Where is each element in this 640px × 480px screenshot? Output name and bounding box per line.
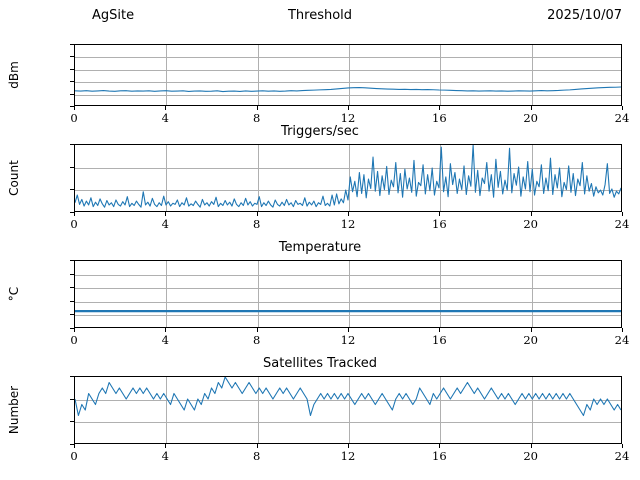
x-tick-label: 4 [162,449,169,463]
x-tick-mark [165,212,166,216]
panel-satellites: Satellites Tracked Number 04812048121620… [0,356,640,474]
data-trace-threshold [75,45,621,105]
x-tick-label: 4 [162,111,169,125]
y-tick-mark [70,144,74,145]
panel-temperature-ylabel: °C [7,287,21,301]
page-title: Threshold [0,8,640,23]
x-tick-mark [348,328,349,332]
x-tick-label: 8 [253,111,260,125]
x-tick-label: 16 [432,449,447,463]
y-tick-mark [70,301,74,302]
y-tick-mark [70,274,74,275]
x-tick-mark [622,212,623,216]
x-tick-mark [74,444,75,448]
x-tick-mark [531,212,532,216]
x-tick-mark [622,444,623,448]
x-tick-label: 24 [615,449,630,463]
y-tick-mark [70,81,74,82]
x-tick-mark [74,328,75,332]
panel-temperature-axes [74,260,622,328]
x-tick-mark [531,444,532,448]
x-tick-mark [439,106,440,110]
panel-satellites-title: Satellites Tracked [0,356,640,371]
data-trace-triggers [75,145,621,211]
panel-triggers-ylabel: Count [7,160,21,196]
y-tick-mark [70,69,74,70]
monitoring-dashboard: AgSite Threshold 2025/10/07 dBm −50−60−7… [0,0,640,480]
x-tick-mark [622,328,623,332]
x-tick-mark [257,106,258,110]
x-tick-mark [531,106,532,110]
y-tick-mark [70,376,74,377]
x-tick-label: 12 [341,449,356,463]
x-tick-mark [165,328,166,332]
y-tick-mark [70,314,74,315]
panel-threshold-axes [74,44,622,106]
x-tick-label: 4 [162,217,169,231]
x-tick-label: 16 [432,111,447,125]
x-tick-mark [74,212,75,216]
y-tick-mark [70,167,74,168]
y-tick-mark [70,189,74,190]
x-tick-mark [439,328,440,332]
y-tick-mark [70,287,74,288]
x-tick-label: 4 [162,333,169,347]
x-tick-label: 0 [70,449,77,463]
x-tick-label: 24 [615,217,630,231]
panel-threshold: dBm −50−60−70−80−90−10004812162024 [0,26,640,124]
x-tick-label: 20 [523,217,538,231]
y-tick-mark [70,56,74,57]
x-tick-label: 24 [615,111,630,125]
panel-triggers-axes [74,144,622,212]
data-trace-satellites [75,377,621,443]
x-tick-label: 24 [615,333,630,347]
x-tick-label: 0 [70,333,77,347]
date-label: 2025/10/07 [547,8,622,23]
y-tick-mark [70,399,74,400]
panel-satellites-ylabel: Number [7,386,21,434]
x-tick-label: 16 [432,217,447,231]
y-tick-mark [70,94,74,95]
x-tick-mark [439,212,440,216]
panel-triggers-title: Triggers/sec [0,124,640,139]
x-tick-label: 20 [523,449,538,463]
x-tick-mark [165,444,166,448]
y-tick-mark [70,421,74,422]
x-tick-label: 12 [341,217,356,231]
x-tick-label: 12 [341,333,356,347]
x-tick-mark [348,444,349,448]
x-tick-mark [165,106,166,110]
x-tick-mark [348,212,349,216]
panel-threshold-ylabel: dBm [7,61,21,89]
y-tick-mark [70,260,74,261]
panel-temperature-title: Temperature [0,240,640,255]
x-tick-label: 8 [253,217,260,231]
x-tick-label: 0 [70,217,77,231]
data-trace-temperature [75,261,621,327]
panel-satellites-axes [74,376,622,444]
x-tick-label: 20 [523,111,538,125]
x-tick-label: 12 [341,111,356,125]
x-tick-label: 20 [523,333,538,347]
x-tick-mark [74,106,75,110]
x-tick-mark [622,106,623,110]
x-tick-mark [257,444,258,448]
x-tick-mark [531,328,532,332]
x-tick-mark [257,328,258,332]
x-tick-label: 16 [432,333,447,347]
panel-temperature: Temperature °C −2002040608004812162024 [0,240,640,352]
x-tick-mark [348,106,349,110]
panel-triggers: Triggers/sec Count 040008000120000481216… [0,124,640,234]
x-tick-mark [439,444,440,448]
y-tick-mark [70,44,74,45]
x-tick-label: 8 [253,449,260,463]
x-tick-mark [257,212,258,216]
x-tick-label: 0 [70,111,77,125]
x-tick-label: 8 [253,333,260,347]
header: AgSite Threshold 2025/10/07 [0,8,640,28]
